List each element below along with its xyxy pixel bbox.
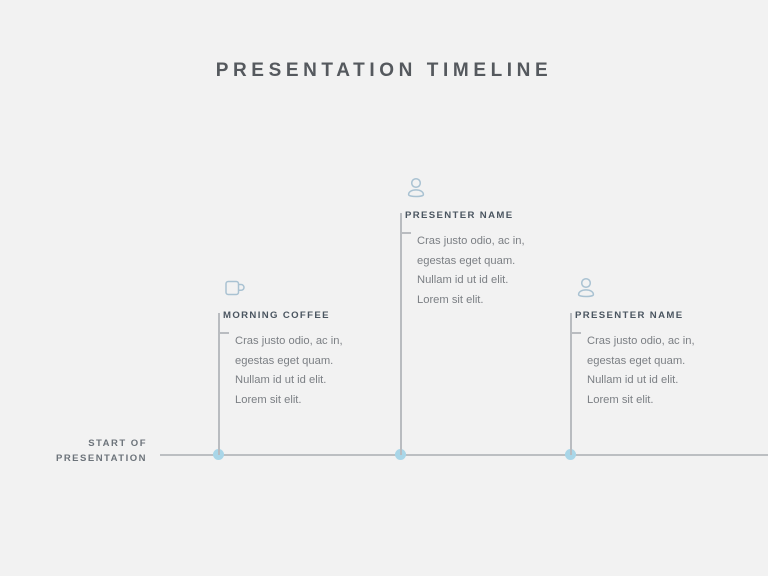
start-of-presentation-label: START OF PRESENTATION bbox=[0, 436, 147, 466]
timeline-node-heading: PRESENTER NAME bbox=[405, 210, 600, 221]
timeline-node-body-wrap: Cras justo odio, ac in, egestas eget qua… bbox=[570, 332, 768, 410]
timeline-node-heading: MORNING COFFEE bbox=[223, 310, 418, 321]
timeline-node-heading: PRESENTER NAME bbox=[575, 310, 768, 321]
person-icon bbox=[405, 176, 600, 205]
timeline-node-bracket bbox=[400, 232, 411, 234]
person-icon bbox=[575, 276, 768, 305]
timeline-axis bbox=[160, 454, 768, 456]
timeline-node-bracket bbox=[218, 332, 229, 334]
timeline-node-body-wrap: Cras justo odio, ac in, egestas eget qua… bbox=[218, 332, 418, 410]
timeline-node-content: PRESENTER NAME Cras justo odio, ac in, e… bbox=[570, 276, 768, 410]
timeline-node-bracket bbox=[570, 332, 581, 334]
presentation-slide: PRESENTATION TIMELINE START OF PRESENTAT… bbox=[0, 0, 768, 576]
timeline-node-content: MORNING COFFEE Cras justo odio, ac in, e… bbox=[218, 276, 418, 410]
page-title: PRESENTATION TIMELINE bbox=[0, 60, 768, 82]
coffee-mug-icon bbox=[223, 276, 418, 305]
timeline-node-body: Cras justo odio, ac in, egestas eget qua… bbox=[235, 332, 418, 410]
timeline-node-body: Cras justo odio, ac in, egestas eget qua… bbox=[587, 332, 768, 410]
